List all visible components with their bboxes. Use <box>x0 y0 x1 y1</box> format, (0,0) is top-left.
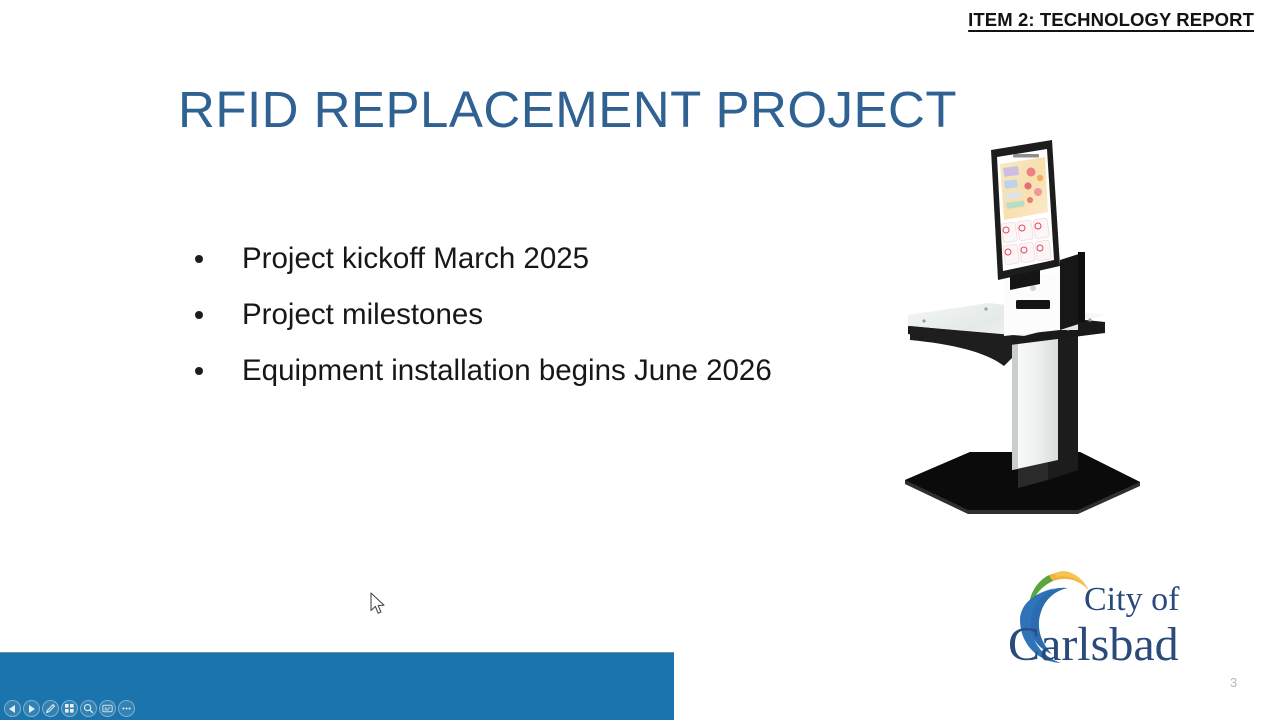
bullet-dot-icon <box>195 255 203 263</box>
triangle-right-icon <box>28 705 35 713</box>
kiosk-monitor <box>991 140 1060 290</box>
logo-line1: City of <box>1084 581 1180 618</box>
pen-icon <box>45 703 56 714</box>
pen-tools-button[interactable] <box>42 700 59 717</box>
slideshow-toolbar <box>4 700 135 717</box>
bullet-dot-icon <box>195 367 203 375</box>
slide-number: 3 <box>1230 675 1237 690</box>
mouse-pointer-icon <box>370 592 388 618</box>
next-slide-button[interactable] <box>23 700 40 717</box>
bullet-list: Project kickoff March 2025 Project miles… <box>190 231 890 399</box>
previous-slide-button[interactable] <box>4 700 21 717</box>
list-item-label: Project milestones <box>242 298 483 331</box>
list-item-label: Project kickoff March 2025 <box>242 242 589 275</box>
triangle-left-icon <box>9 705 16 713</box>
carlsbad-logo: City of Carlsbad <box>1006 568 1221 678</box>
grid-icon <box>64 703 75 714</box>
captions-icon <box>102 703 113 714</box>
zoom-slide-button[interactable] <box>80 700 97 717</box>
toggle-captions-button[interactable] <box>99 700 116 717</box>
magnifier-icon <box>83 703 94 714</box>
list-item: Project kickoff March 2025 <box>190 231 890 287</box>
ellipsis-icon <box>121 703 132 714</box>
presentation-slide: ITEM 2: TECHNOLOGY REPORT RFID REPLACEME… <box>0 0 1280 720</box>
logo-line2: Carlsbad <box>1008 618 1179 671</box>
all-slides-button[interactable] <box>61 700 78 717</box>
list-item-label: Equipment installation begins June 2026 <box>242 354 772 387</box>
more-options-button[interactable] <box>118 700 135 717</box>
kiosk-photo <box>900 140 1145 522</box>
list-item: Project milestones <box>190 287 890 343</box>
presenter-toolbar-bar <box>0 652 674 720</box>
bullet-dot-icon <box>195 311 203 319</box>
page-title: RFID REPLACEMENT PROJECT <box>178 80 957 139</box>
list-item: Equipment installation begins June 2026 <box>190 343 890 399</box>
slide-header-item-label: ITEM 2: TECHNOLOGY REPORT <box>968 9 1254 31</box>
